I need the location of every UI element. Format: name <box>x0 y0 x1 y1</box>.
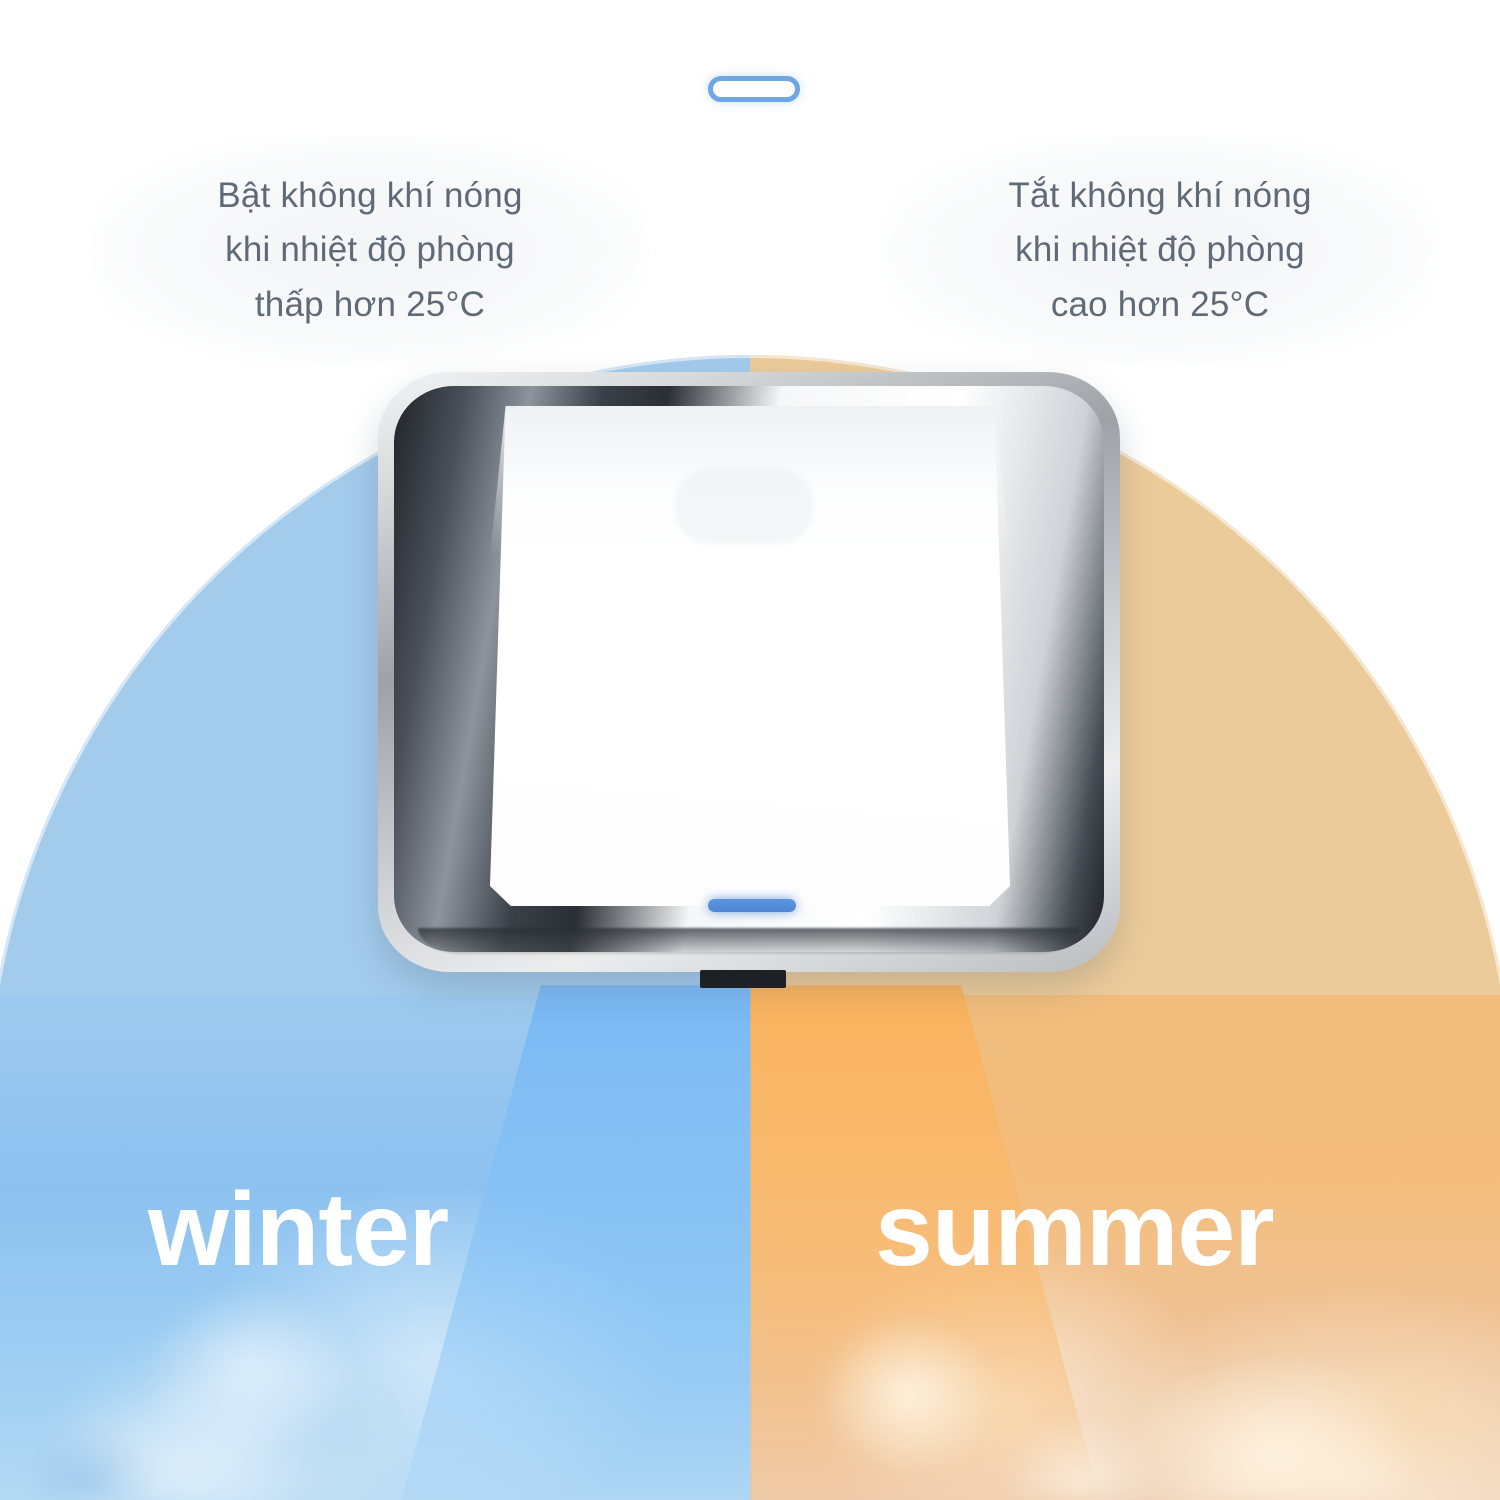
blue-pill-indicator-icon <box>708 76 800 102</box>
device-bottom-lip-shadow <box>418 928 1080 954</box>
device-air-nozzle <box>700 970 786 988</box>
caption-right-line-3: cao hơn 25°C <box>902 278 1418 332</box>
caption-right: Tắt không khí nóng khi nhiệt độ phòng ca… <box>880 135 1440 366</box>
device-led-indicator <box>708 899 796 912</box>
product-poster: Bật không khí nóng khi nhiệt độ phòng th… <box>0 0 1500 1500</box>
caption-right-line-1: Tắt không khí nóng <box>902 169 1418 223</box>
device-sensor-area <box>674 468 814 544</box>
caption-left-line-2: khi nhiệt độ phòng <box>112 223 628 277</box>
season-label-summer: summer <box>875 1178 1274 1282</box>
caption-left-line-1: Bật không khí nóng <box>112 169 628 223</box>
caption-left: Bật không khí nóng khi nhiệt độ phòng th… <box>90 135 650 366</box>
caption-right-line-2: khi nhiệt độ phòng <box>902 223 1418 277</box>
hand-dryer-device <box>378 372 1120 972</box>
season-label-winter: winter <box>148 1178 448 1282</box>
caption-left-line-3: thấp hơn 25°C <box>112 278 628 332</box>
